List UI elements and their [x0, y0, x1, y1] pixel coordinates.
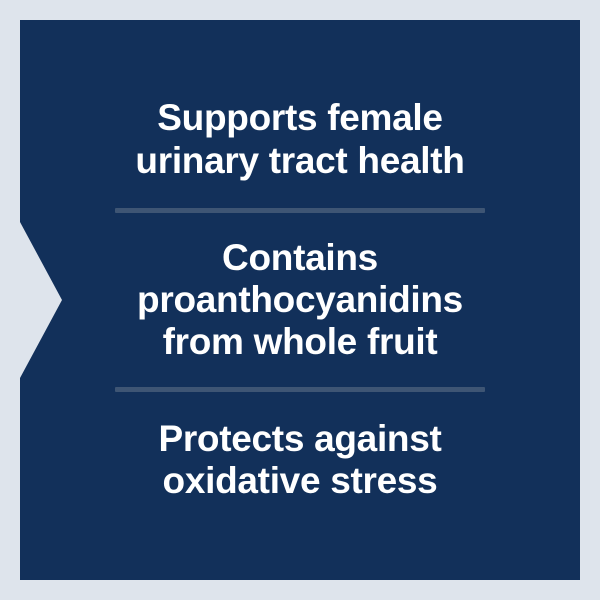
benefit-divider-1 [115, 208, 485, 213]
benefit-line: Protects against [50, 418, 550, 460]
benefit-item-urinary-tract-health: Supports female urinary tract health [50, 97, 550, 181]
benefit-line: oxidative stress [50, 460, 550, 502]
benefit-line: urinary tract health [50, 140, 550, 182]
benefits-graphic: Supports female urinary tract health Con… [0, 0, 600, 600]
benefit-line: Contains [50, 237, 550, 279]
benefit-line: Supports female [50, 97, 550, 139]
benefit-divider-2 [115, 387, 485, 392]
benefits-list: Supports female urinary tract health Con… [20, 20, 580, 580]
benefit-line: from whole fruit [50, 321, 550, 363]
benefit-line: proanthocyanidins [50, 279, 550, 321]
benefit-item-oxidative-stress: Protects against oxidative stress [50, 418, 550, 502]
benefit-item-proanthocyanidins: Contains proanthocyanidins from whole fr… [50, 237, 550, 364]
